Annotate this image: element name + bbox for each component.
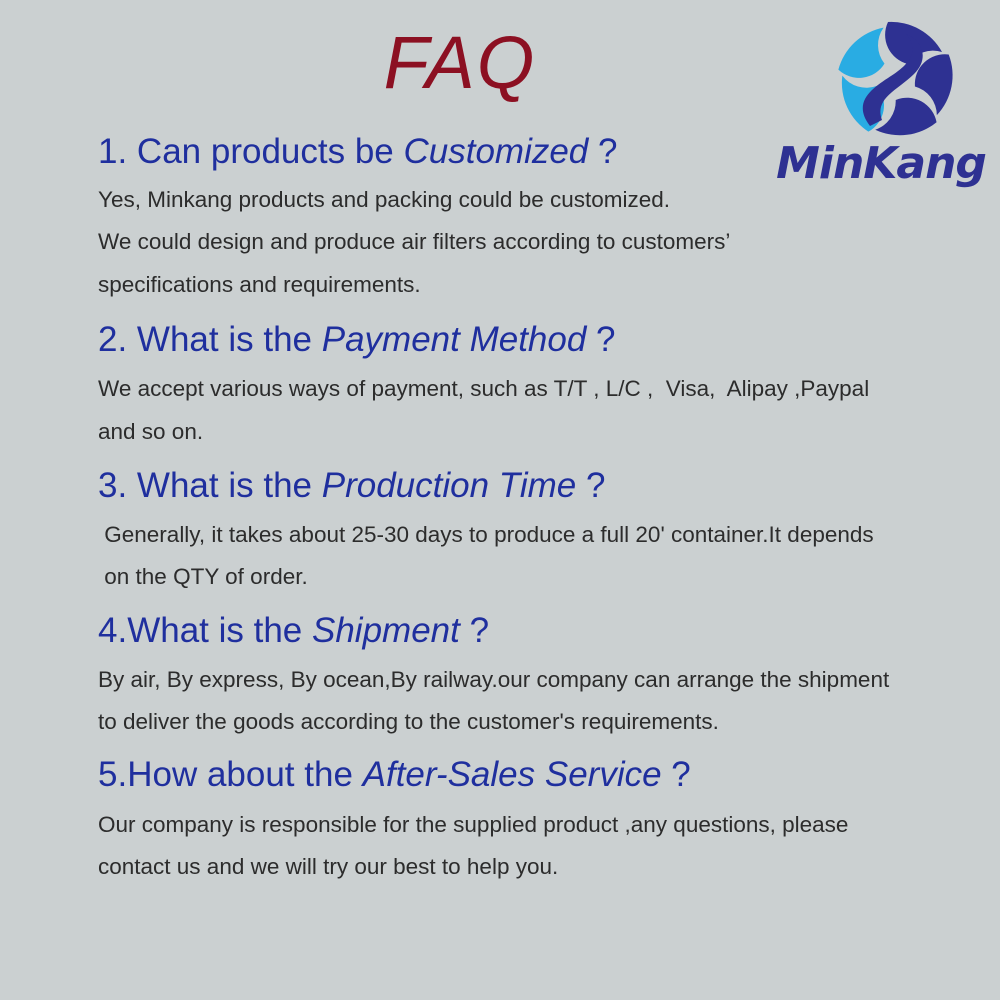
faq-question-emphasis: Production Time	[322, 466, 577, 505]
faq-item: 3. What is the Production Time ? General…	[98, 466, 978, 599]
faq-question: 2. What is the Payment Method ?	[98, 320, 978, 359]
faq-item: 2. What is the Payment Method ? We accep…	[98, 320, 978, 453]
faq-question-tail: ?	[662, 755, 691, 794]
faq-answer: By air, By express, By ocean,By railway.…	[98, 659, 978, 744]
faq-number: 1.	[98, 132, 127, 171]
faq-question-lead: Can products be	[127, 132, 403, 171]
faq-number: 2.	[98, 320, 127, 359]
faq-number: 4.	[98, 611, 127, 650]
minkang-swirl-logo-icon	[826, 14, 966, 146]
faq-answer: Generally, it takes about 25-30 days to …	[98, 514, 978, 599]
faq-question-lead: What is the	[127, 611, 312, 650]
faq-question: 5.How about the After-Sales Service ?	[98, 755, 978, 794]
faq-question: 1. Can products be Customized ?	[98, 132, 978, 171]
faq-question-tail: ?	[588, 132, 617, 171]
faq-item: 5.How about the After-Sales Service ? Ou…	[98, 755, 978, 888]
faq-question: 3. What is the Production Time ?	[98, 466, 978, 505]
faq-item: 4.What is the Shipment ? By air, By expr…	[98, 611, 978, 744]
faq-question-emphasis: After-Sales Service	[363, 755, 662, 794]
faq-answer: Yes, Minkang products and packing could …	[98, 179, 978, 306]
faq-question-lead: What is the	[127, 320, 322, 359]
faq-question-tail: ?	[576, 466, 605, 505]
faq-item: 1. Can products be Customized ? Yes, Min…	[98, 132, 978, 306]
faq-content: 1. Can products be Customized ? Yes, Min…	[98, 132, 978, 892]
faq-page: FAQ	[0, 0, 1000, 1000]
faq-answer: We accept various ways of payment, such …	[98, 368, 978, 453]
faq-number: 3.	[98, 466, 127, 505]
faq-question-emphasis: Shipment	[312, 611, 460, 650]
faq-question-tail: ?	[460, 611, 489, 650]
faq-question-emphasis: Payment Method	[322, 320, 587, 359]
faq-question-lead: How about the	[127, 755, 362, 794]
faq-answer: Our company is responsible for the suppl…	[98, 804, 978, 889]
faq-question-lead: What is the	[127, 466, 322, 505]
faq-question: 4.What is the Shipment ?	[98, 611, 978, 650]
faq-question-tail: ?	[586, 320, 615, 359]
faq-number: 5.	[98, 755, 127, 794]
faq-question-emphasis: Customized	[403, 132, 588, 171]
